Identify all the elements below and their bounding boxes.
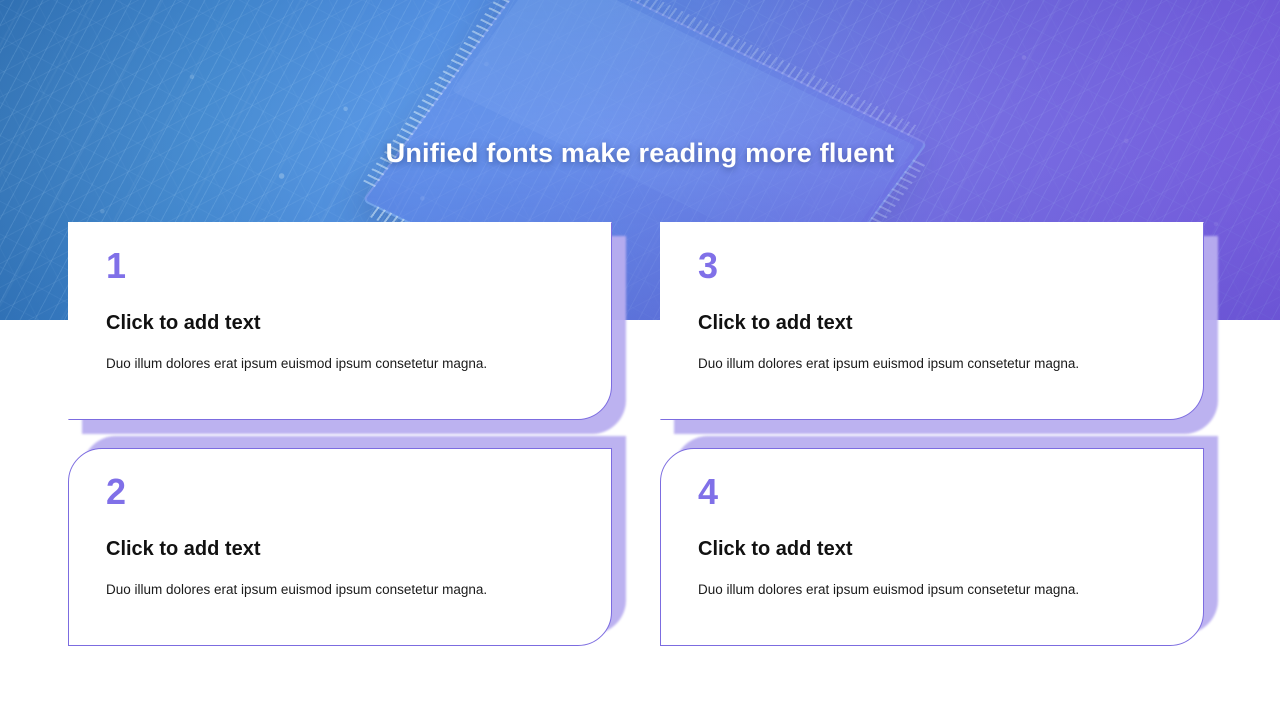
card-2-description[interactable]: Duo illum dolores erat ipsum euismod ips… bbox=[106, 581, 578, 599]
card-4-description[interactable]: Duo illum dolores erat ipsum euismod ips… bbox=[698, 581, 1170, 599]
card-4-number: 4 bbox=[698, 474, 1170, 510]
card-1-number: 1 bbox=[106, 248, 578, 284]
card-3-heading[interactable]: Click to add text bbox=[698, 312, 1170, 334]
content-card-1[interactable]: 1 Click to add text Duo illum dolores er… bbox=[68, 222, 612, 420]
card-2-heading[interactable]: Click to add text bbox=[106, 538, 578, 560]
content-card-2[interactable]: 2 Click to add text Duo illum dolores er… bbox=[68, 448, 612, 646]
card-4-heading[interactable]: Click to add text bbox=[698, 538, 1170, 560]
card-3-description[interactable]: Duo illum dolores erat ipsum euismod ips… bbox=[698, 355, 1170, 373]
content-card-4[interactable]: 4 Click to add text Duo illum dolores er… bbox=[660, 448, 1204, 646]
content-card-3[interactable]: 3 Click to add text Duo illum dolores er… bbox=[660, 222, 1204, 420]
card-3-number: 3 bbox=[698, 248, 1170, 284]
card-1-description[interactable]: Duo illum dolores erat ipsum euismod ips… bbox=[106, 355, 578, 373]
slide-title: Unified fonts make reading more fluent bbox=[0, 138, 1280, 169]
card-1-heading[interactable]: Click to add text bbox=[106, 312, 578, 334]
card-2-number: 2 bbox=[106, 474, 578, 510]
